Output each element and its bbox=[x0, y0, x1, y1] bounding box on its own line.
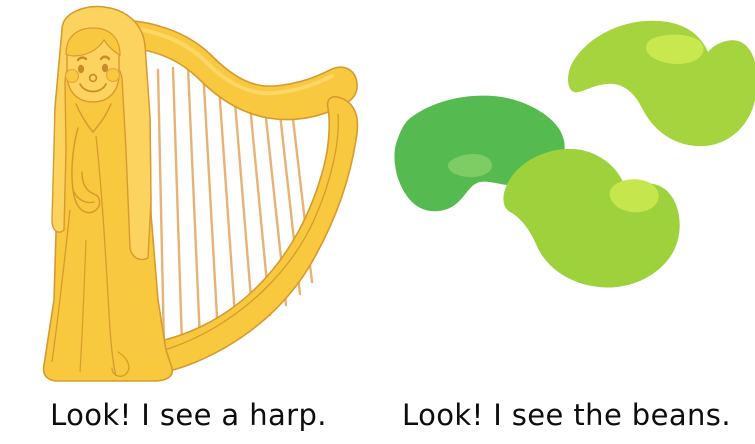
caption-beans: Look! I see the beans. bbox=[378, 392, 755, 438]
picture-word-page: Look! I see a harp. bbox=[0, 0, 755, 444]
bean-light-green-bottom-body bbox=[503, 149, 679, 288]
caption-harp: Look! I see a harp. bbox=[0, 392, 377, 438]
woman-eye-left bbox=[78, 65, 84, 73]
woman-cheek-left bbox=[66, 70, 79, 83]
bean-light-green-bottom bbox=[503, 149, 679, 288]
panel-beans: Look! I see the beans. bbox=[378, 0, 755, 444]
panel-harp: Look! I see a harp. bbox=[0, 0, 377, 444]
bean-light-green-top bbox=[568, 21, 755, 146]
harp-illustration bbox=[0, 0, 377, 388]
beans-illustration bbox=[378, 0, 755, 388]
woman-cheek-right bbox=[107, 69, 120, 82]
woman-eye-right bbox=[102, 64, 108, 72]
harp-woman-figure bbox=[44, 7, 173, 381]
